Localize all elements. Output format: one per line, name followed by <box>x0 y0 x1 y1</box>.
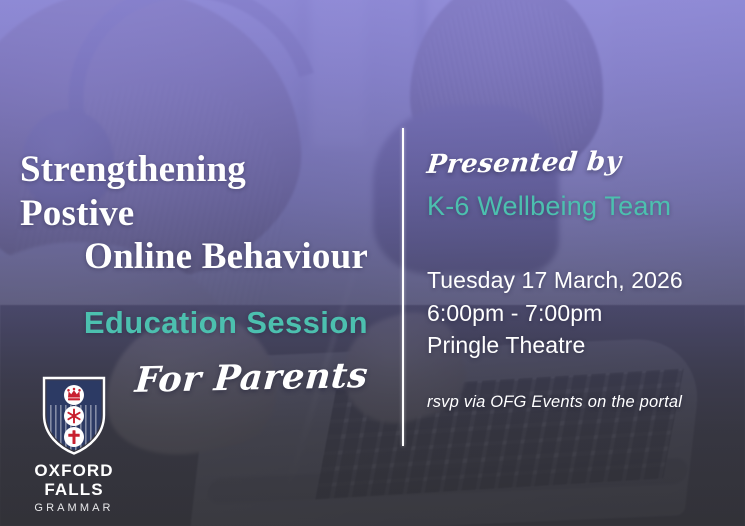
event-time: 6:00pm - 7:00pm <box>427 297 727 330</box>
school-logo: OXFORD FALLS GRAMMAR <box>18 375 130 514</box>
school-crest-shield-icon <box>42 375 106 455</box>
right-column: Presented by K-6 Wellbeing Team Tuesday … <box>427 150 727 412</box>
crown-icon <box>67 387 81 400</box>
school-name-line-2: FALLS <box>18 480 130 499</box>
event-date: Tuesday 17 March, 2026 <box>427 264 727 297</box>
event-details: Tuesday 17 March, 2026 6:00pm - 7:00pm P… <box>427 264 727 362</box>
event-venue: Pringle Theatre <box>427 329 727 362</box>
vertical-divider <box>402 128 404 446</box>
school-name-line-1: OXFORD <box>18 461 130 480</box>
rsvp-note: rsvp via OFG Events on the portal <box>427 393 727 412</box>
poster-title-line-2: Online Behaviour <box>20 235 368 279</box>
poster-title-line-1: Strengthening Postive <box>20 148 368 235</box>
school-name: OXFORD FALLS GRAMMAR <box>18 461 130 514</box>
poster-content: Strengthening Postive Online Behaviour E… <box>0 0 745 526</box>
left-column: Strengthening Postive Online Behaviour E… <box>0 148 382 396</box>
presenter-name: K-6 Wellbeing Team <box>427 191 727 222</box>
presented-by-label: Presented by <box>425 145 729 180</box>
event-poster: Strengthening Postive Online Behaviour E… <box>0 0 745 526</box>
school-name-line-3: GRAMMAR <box>18 502 130 514</box>
session-label: Education Session <box>20 305 368 341</box>
